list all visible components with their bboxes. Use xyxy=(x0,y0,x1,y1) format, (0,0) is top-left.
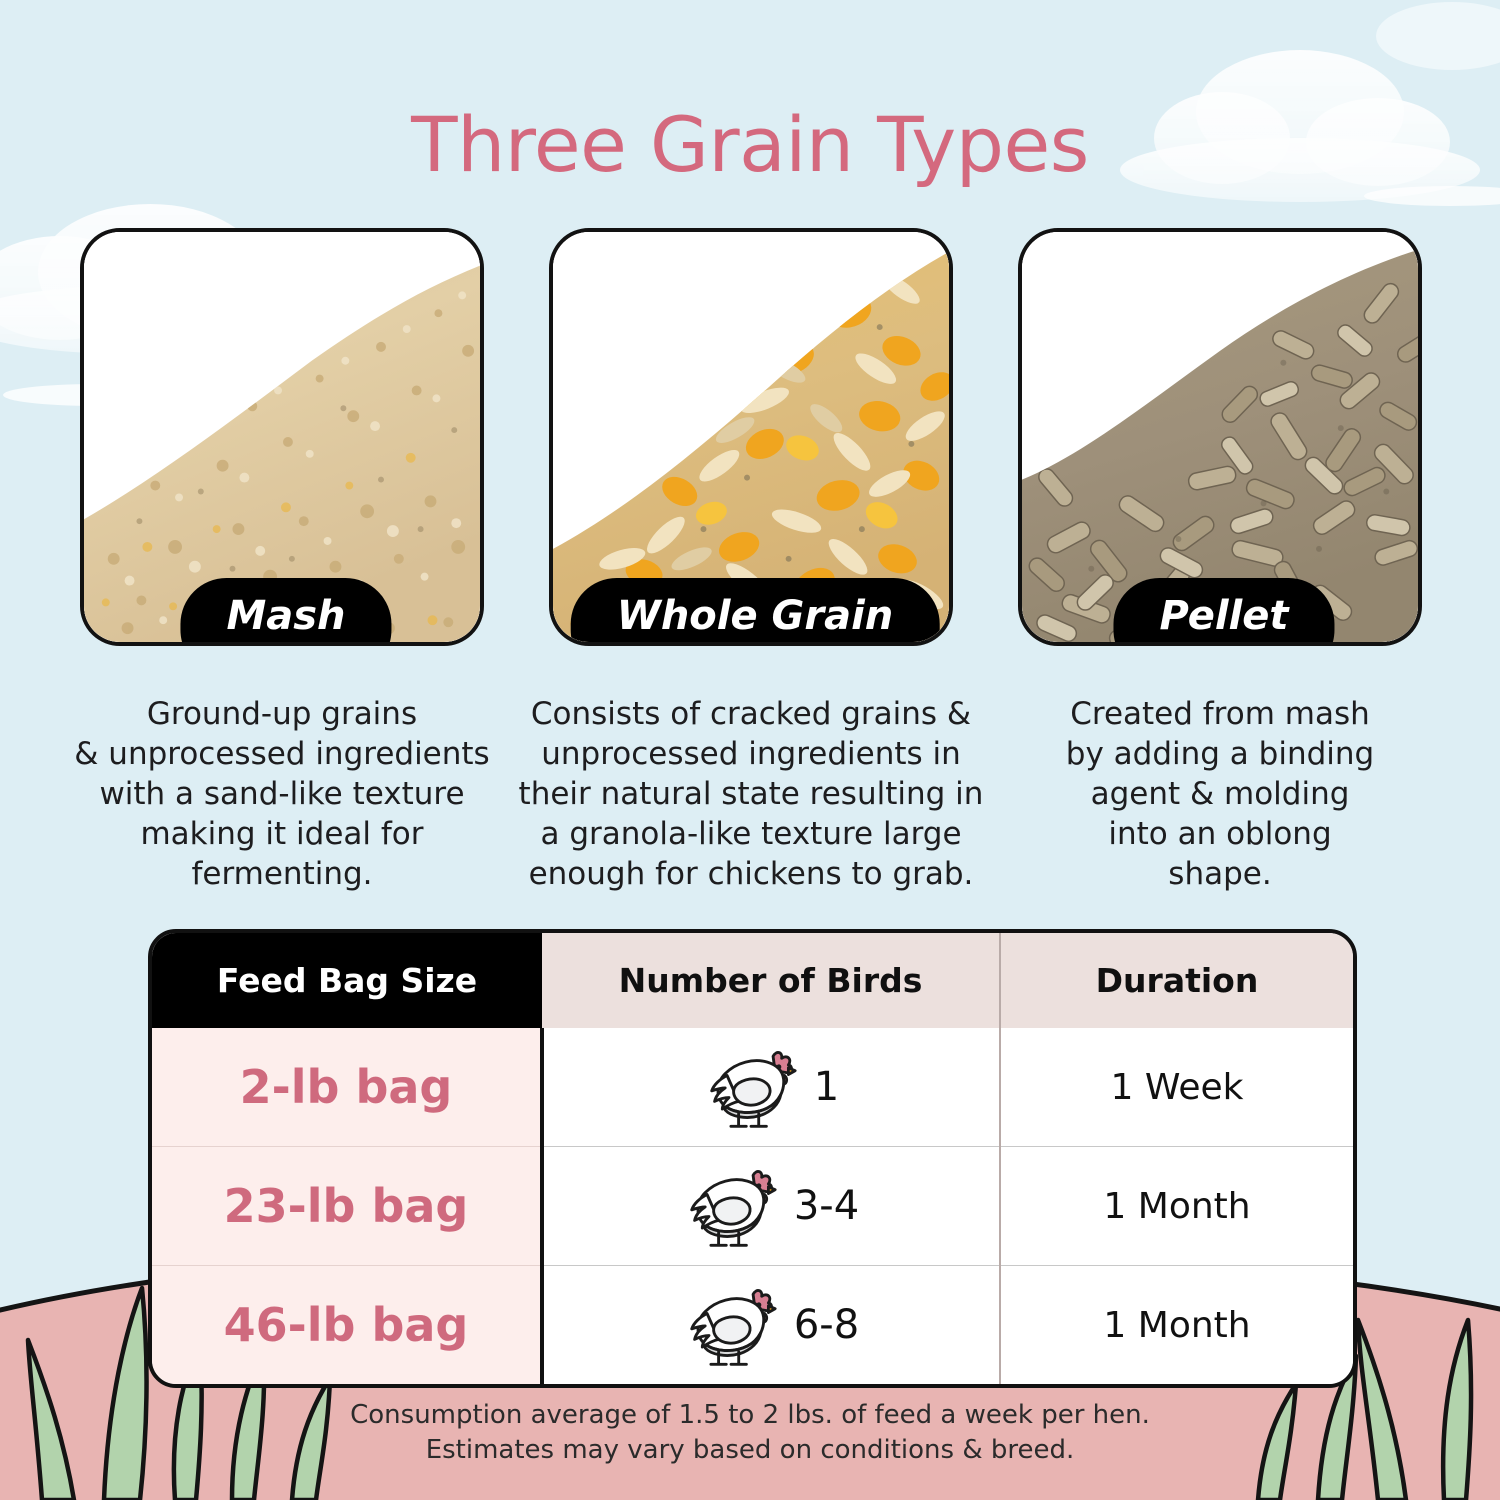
hen-icon xyxy=(684,1160,780,1252)
table-header-row: Feed Bag Size Number of Birds Duration xyxy=(152,933,1353,1028)
table-row: 2-lb bag xyxy=(152,1028,1353,1147)
bird-count: 3-4 xyxy=(794,1183,859,1229)
cell-birds: 1 xyxy=(542,1028,1000,1147)
cell-duration: 1 Month xyxy=(1000,1266,1353,1385)
hen-icon xyxy=(704,1041,800,1133)
mash-label-wrap: Mash xyxy=(84,562,484,642)
grain-label-pellet: Pellet xyxy=(1113,578,1334,646)
description-mash: Ground-up grains & unprocessed ingredien… xyxy=(62,695,502,895)
grain-cards-row: Mash xyxy=(0,228,1500,658)
cell-birds: 3-4 xyxy=(542,1147,1000,1266)
description-whole-grain: Consists of cracked grains & unprocessed… xyxy=(516,695,986,895)
header-number-of-birds: Number of Birds xyxy=(542,933,1000,1028)
grain-label-whole-grain: Whole Grain xyxy=(571,578,940,646)
header-duration: Duration xyxy=(1000,933,1353,1028)
table-row: 46-lb bag xyxy=(152,1266,1353,1385)
bird-count: 1 xyxy=(814,1064,839,1110)
feed-bag-table: Feed Bag Size Number of Birds Duration 2… xyxy=(148,929,1357,1388)
description-pellet: Created from mash by adding a binding ag… xyxy=(1012,695,1428,895)
grain-card-pellet[interactable]: Pellet xyxy=(1018,228,1422,646)
cell-duration: 1 Week xyxy=(1000,1028,1353,1147)
pellet-label-wrap: Pellet xyxy=(1022,562,1422,642)
page-title: Three Grain Types xyxy=(0,100,1500,189)
cell-duration: 1 Month xyxy=(1000,1147,1353,1266)
whole-grain-label-wrap: Whole Grain xyxy=(553,562,953,642)
grain-card-mash[interactable]: Mash xyxy=(80,228,484,646)
cell-bag-size: 23-lb bag xyxy=(152,1147,542,1266)
grain-label-mash: Mash xyxy=(180,578,391,646)
cell-bag-size: 2-lb bag xyxy=(152,1028,542,1147)
consumption-footnote: Consumption average of 1.5 to 2 lbs. of … xyxy=(0,1398,1500,1468)
table-row: 23-lb bag xyxy=(152,1147,1353,1266)
hen-icon xyxy=(684,1279,780,1371)
cell-bag-size: 46-lb bag xyxy=(152,1266,542,1385)
cell-birds: 6-8 xyxy=(542,1266,1000,1385)
header-feed-bag-size: Feed Bag Size xyxy=(152,933,542,1028)
grain-card-whole-grain[interactable]: Whole Grain xyxy=(549,228,953,646)
bird-count: 6-8 xyxy=(794,1302,859,1348)
